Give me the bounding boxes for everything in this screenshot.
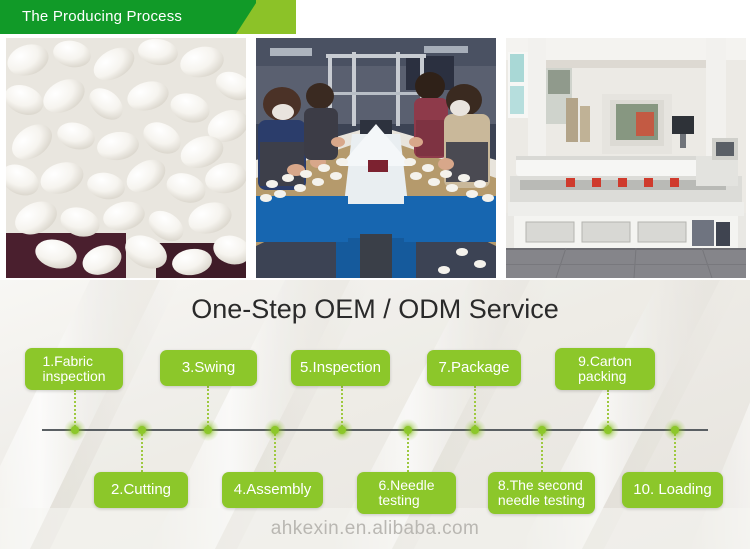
node-dot-icon bbox=[404, 426, 412, 434]
photo-row bbox=[0, 38, 750, 278]
node-dot-icon bbox=[671, 426, 679, 434]
process-step-label: 10. Loading bbox=[633, 482, 711, 498]
node-dot-icon bbox=[604, 426, 612, 434]
node-dot-icon bbox=[271, 426, 279, 434]
process-step-box-4[interactable]: 4.Assembly bbox=[222, 472, 323, 508]
process-step-box-7[interactable]: 7.Package bbox=[427, 350, 521, 386]
photo-silk-cocoons-pile bbox=[6, 38, 246, 278]
process-step-label: 2.Cutting bbox=[111, 482, 171, 498]
node-dot-icon bbox=[71, 426, 79, 434]
panel-heading: One-Step OEM / ODM Service bbox=[0, 294, 750, 325]
page-title: The Producing Process bbox=[22, 0, 182, 34]
process-step-label: 5.Inspection bbox=[300, 360, 381, 376]
process-step-label: 8.The second needle testing bbox=[498, 478, 585, 508]
process-step-box-9[interactable]: 9.Carton packing bbox=[555, 348, 655, 390]
process-step-box-8[interactable]: 8.The second needle testing bbox=[488, 472, 595, 514]
process-step-box-1[interactable]: 1.Fabric inspection bbox=[25, 348, 123, 390]
watermark: ahkexin.en.alibaba.com bbox=[0, 518, 750, 540]
process-step-box-6[interactable]: 6.Needle testing bbox=[357, 472, 456, 514]
photo-cocoon-sorting-line bbox=[256, 38, 496, 278]
photo-quilting-machine bbox=[506, 38, 746, 278]
header-light-band bbox=[256, 0, 292, 34]
process-step-box-2[interactable]: 2.Cutting bbox=[94, 472, 188, 508]
process-step-box-5[interactable]: 5.Inspection bbox=[291, 350, 390, 386]
process-step-box-3[interactable]: 3.Swing bbox=[160, 350, 257, 386]
process-step-label: 4.Assembly bbox=[234, 482, 312, 498]
process-step-label: 7.Package bbox=[439, 360, 510, 376]
process-step-label: 9.Carton packing bbox=[578, 354, 632, 384]
node-dot-icon bbox=[204, 426, 212, 434]
node-dot-icon bbox=[338, 426, 346, 434]
node-dot-icon bbox=[538, 426, 546, 434]
process-step-box-10[interactable]: 10. Loading bbox=[622, 472, 723, 508]
node-dot-icon bbox=[471, 426, 479, 434]
process-step-label: 6.Needle testing bbox=[378, 478, 434, 508]
process-step-label: 3.Swing bbox=[182, 360, 235, 376]
page-root: The Producing Process bbox=[0, 0, 750, 549]
header-banner: The Producing Process bbox=[0, 0, 750, 34]
process-step-label: 1.Fabric inspection bbox=[42, 354, 105, 384]
node-dot-icon bbox=[138, 426, 146, 434]
